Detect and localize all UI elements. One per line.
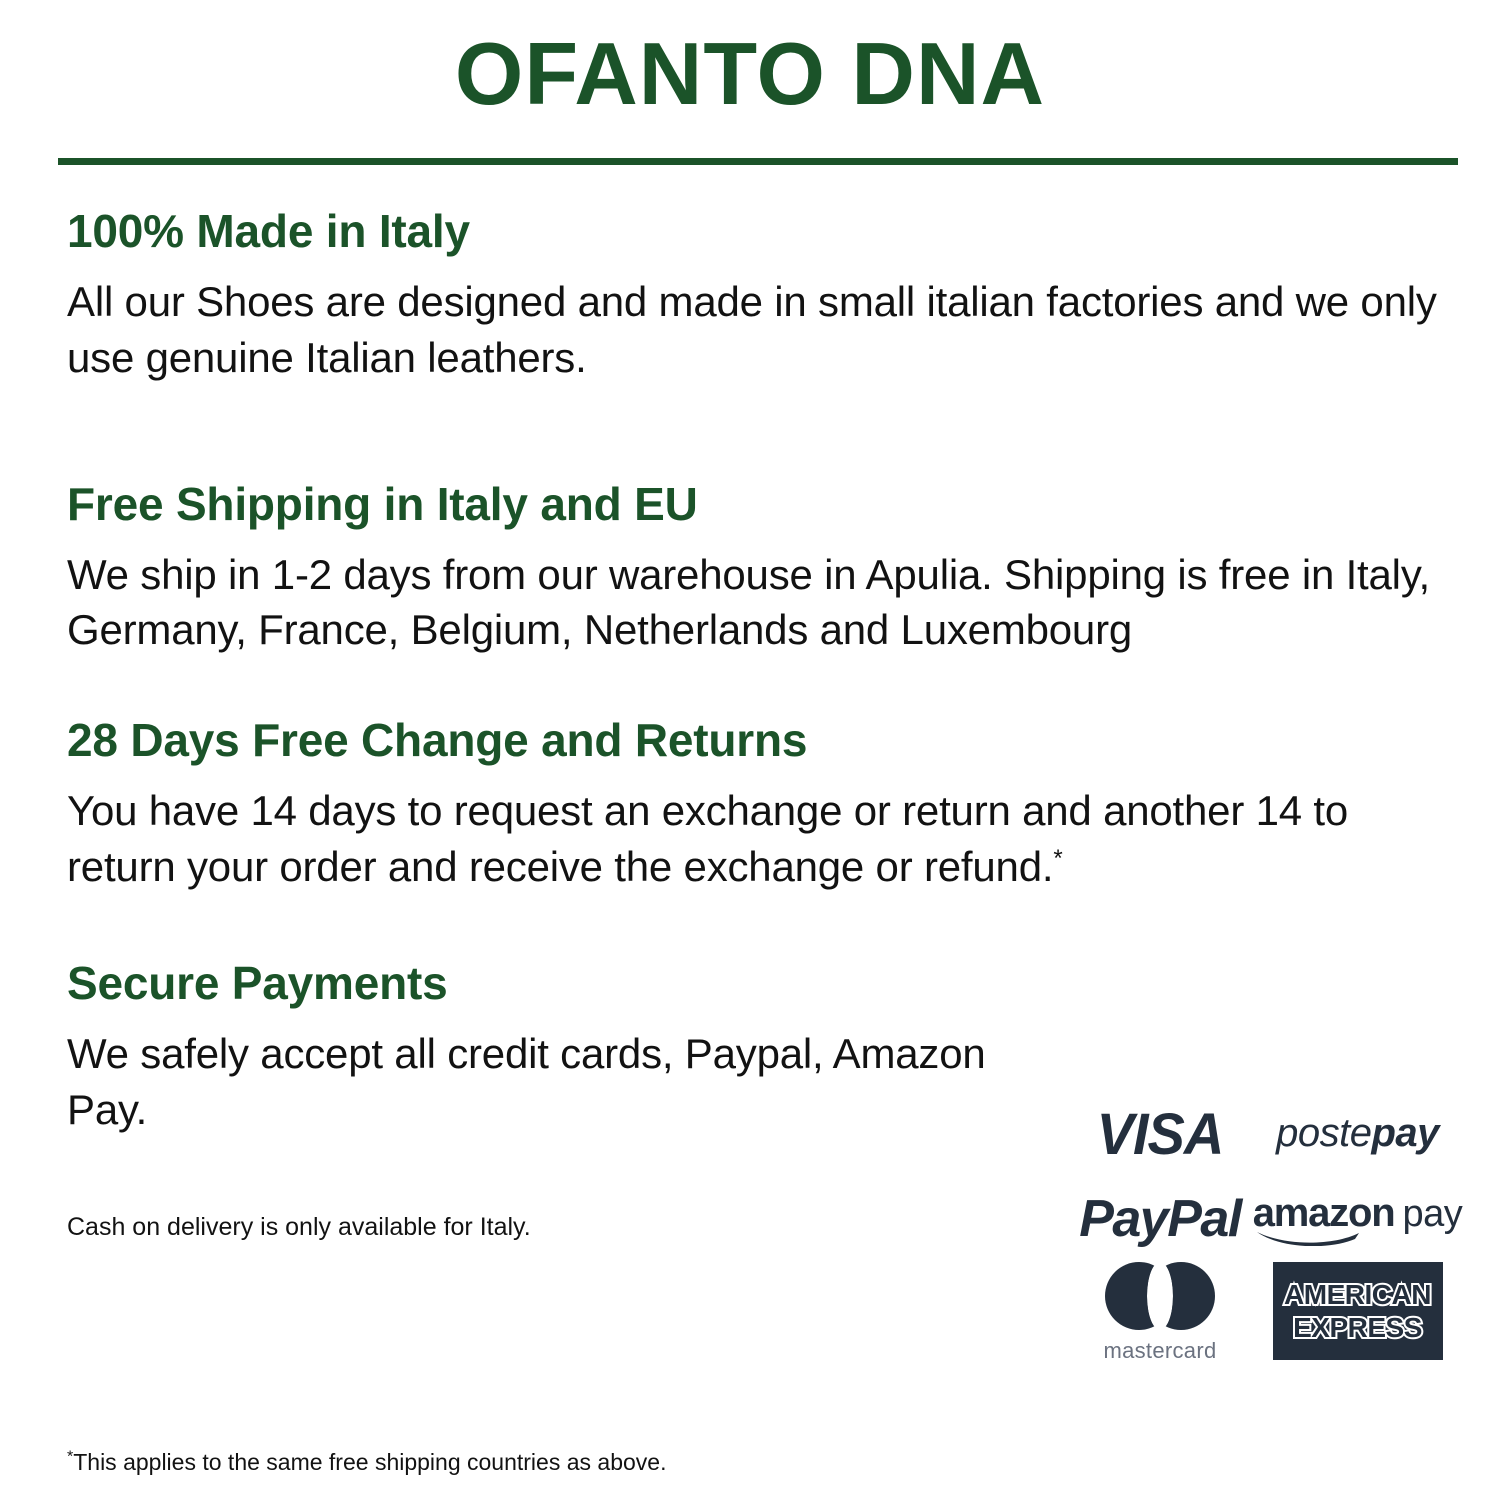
cash-on-delivery-note: Cash on delivery is only available for I… <box>67 1211 1047 1244</box>
mastercard-label: mastercard <box>1103 1338 1216 1364</box>
content-area: 100% Made in Italy All our Shoes are des… <box>67 205 1457 1244</box>
section-made-in-italy: 100% Made in Italy All our Shoes are des… <box>67 205 1457 386</box>
amex-line-2: EXPRESS <box>1293 1314 1422 1342</box>
section-body: We safely accept all credit cards, Paypa… <box>67 1026 1047 1138</box>
amazon-pay-logo: amazonpay <box>1255 1191 1460 1248</box>
payment-logo-row: mastercard AMERICAN EXPRESS <box>1065 1262 1460 1372</box>
payment-logos: VISA postepay PayPal amazonpay <box>1065 1090 1460 1372</box>
amex-badge: AMERICAN EXPRESS <box>1273 1262 1443 1360</box>
footnote-text: This applies to the same free shipping c… <box>73 1449 666 1475</box>
section-body: You have 14 days to request an exchange … <box>67 783 1457 895</box>
mastercard-overlap <box>1147 1262 1173 1330</box>
amazon-smile-icon <box>1255 1230 1363 1246</box>
ofanto-dna-info-panel: OFANTO DNA 100% Made in Italy All our Sh… <box>0 0 1500 1500</box>
footnote: *This applies to the same free shipping … <box>67 1448 666 1478</box>
visa-wordmark: VISA <box>1097 1099 1224 1167</box>
secure-payments-text: Secure Payments We safely accept all cre… <box>67 957 1047 1244</box>
section-free-shipping: Free Shipping in Italy and EU We ship in… <box>67 478 1457 659</box>
postepay-wordmark: postepay <box>1276 1111 1439 1156</box>
section-returns: 28 Days Free Change and Returns You have… <box>67 714 1457 895</box>
postepay-poste-text: poste <box>1276 1111 1371 1155</box>
spacer <box>67 895 1457 957</box>
section-heading: Secure Payments <box>67 957 1047 1010</box>
postepay-pay-text: pay <box>1371 1111 1438 1155</box>
footnote-marker: * <box>1053 845 1062 872</box>
american-express-logo: AMERICAN EXPRESS <box>1255 1262 1460 1360</box>
mastercard-mark: mastercard <box>1103 1262 1216 1364</box>
section-body: All our Shoes are designed and made in s… <box>67 274 1457 386</box>
mastercard-logo: mastercard <box>1065 1262 1255 1364</box>
section-body: We ship in 1-2 days from our warehouse i… <box>67 547 1457 659</box>
paypal-wordmark: PayPal <box>1079 1189 1241 1249</box>
amex-line-1: AMERICAN <box>1284 1281 1431 1309</box>
amazon-pay-text: pay <box>1402 1193 1462 1235</box>
payment-logo-row: PayPal amazonpay <box>1065 1176 1460 1262</box>
amazon-text: amazon <box>1253 1191 1395 1235</box>
page-title: OFANTO DNA <box>0 26 1500 123</box>
spacer <box>67 658 1457 714</box>
section-body-text: You have 14 days to request an exchange … <box>67 787 1348 890</box>
section-heading: 28 Days Free Change and Returns <box>67 714 1457 767</box>
postepay-logo: postepay <box>1255 1111 1460 1156</box>
spacer <box>67 386 1457 478</box>
section-heading: Free Shipping in Italy and EU <box>67 478 1457 531</box>
amazon-pay-wordmark: amazonpay <box>1253 1191 1463 1248</box>
visa-logo: VISA <box>1065 1101 1255 1166</box>
mastercard-circles-icon <box>1105 1262 1215 1330</box>
payment-logo-row: VISA postepay <box>1065 1090 1460 1176</box>
section-heading: 100% Made in Italy <box>67 205 1457 258</box>
paypal-logo: PayPal <box>1065 1189 1255 1249</box>
header-divider <box>58 158 1458 165</box>
